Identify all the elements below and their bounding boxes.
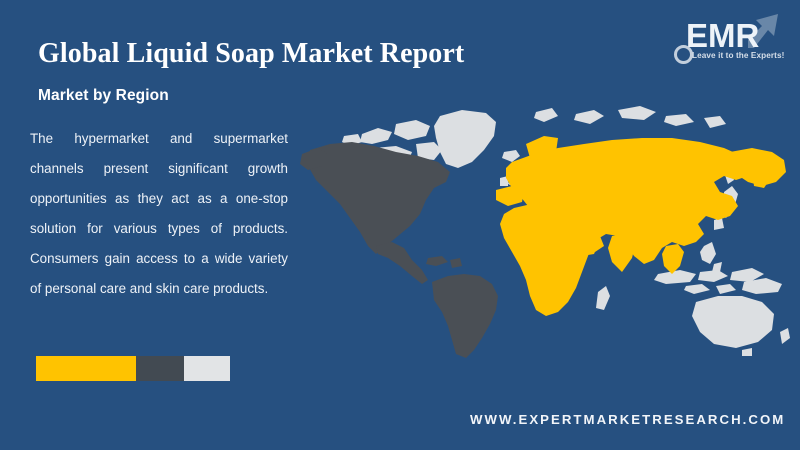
page-subtitle: Market by Region <box>38 87 169 105</box>
page-title: Global Liquid Soap Market Report <box>38 38 464 70</box>
legend-swatch-amber <box>36 356 136 381</box>
emr-logo: EMR Leave it to the Experts! <box>668 12 786 74</box>
world-map <box>300 96 790 358</box>
logo-wordmark: EMR <box>686 19 759 52</box>
footer-website-url: WWW.EXPERTMARKETRESEARCH.COM <box>470 412 785 427</box>
logo-tagline: Leave it to the Experts! <box>692 51 785 60</box>
legend-swatch-dark <box>136 356 184 381</box>
body-paragraph: The hypermarket and supermarket channels… <box>30 124 288 304</box>
legend-swatch-light <box>184 356 230 381</box>
map-regions-dark <box>300 142 498 358</box>
legend-bar <box>36 356 230 381</box>
infographic-canvas: EMR Leave it to the Experts! <box>0 0 800 450</box>
